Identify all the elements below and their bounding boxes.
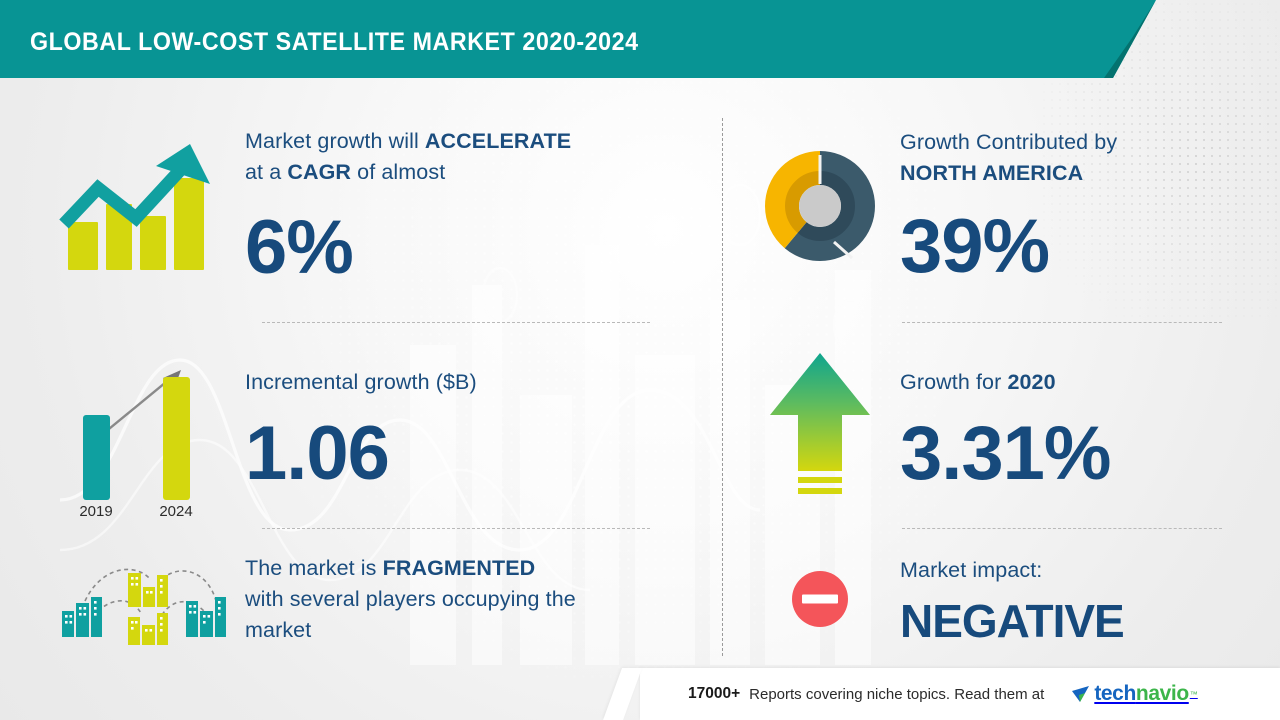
footer-tagline: Reports covering niche topics. Read them… <box>749 686 1044 703</box>
up-arrow-icon-cell <box>740 349 900 509</box>
stat-block-yearly-growth: Growth for 2020 3.31% <box>740 340 1260 518</box>
cagr-lead-bold-cagr: CAGR <box>287 160 351 184</box>
yearly-growth-value: 3.31% <box>900 416 1260 492</box>
bar-chart-icon-cell: 2019 2024 <box>40 342 245 517</box>
building-cluster-top <box>128 573 168 607</box>
footer-report-count: 17000+ <box>688 685 740 703</box>
infographic-content: Market growth will ACCELERATE at a CAGR … <box>0 78 1280 658</box>
regional-contribution-text: Growth Contributed by NORTH AMERICA 39% <box>900 127 1260 285</box>
cagr-lead-bold-accelerate: ACCELERATE <box>425 129 571 153</box>
up-arrow-icon <box>766 349 874 509</box>
divider-right-2 <box>902 528 1222 529</box>
divider-right-1 <box>902 322 1222 323</box>
fragmentation-plain-1: The market is <box>245 556 383 580</box>
cagr-lead-plain-1: Market growth will <box>245 129 425 153</box>
fragmentation-line-2: with several players occupying the <box>245 587 576 611</box>
logo-text-tech: tech <box>1094 682 1136 706</box>
stat-block-regional-contribution: Growth Contributed by NORTH AMERICA 39% <box>740 106 1260 306</box>
growth-chart-icon <box>58 136 228 276</box>
regional-lead-line-1: Growth Contributed by <box>900 130 1117 154</box>
technavio-mark-icon <box>1070 683 1092 705</box>
donut-chart-icon-cell <box>740 146 900 266</box>
yearly-growth-bold-year: 2020 <box>1007 370 1055 394</box>
stat-block-incremental-growth: 2019 2024 Incremental growth ($B) 1.06 <box>40 340 700 518</box>
cagr-lead: Market growth will ACCELERATE at a CAGR … <box>245 126 700 188</box>
divider-left-1 <box>262 322 650 323</box>
market-impact-text: Market impact: NEGATIVE <box>900 555 1260 644</box>
fragmentation-bold: FRAGMENTED <box>383 556 536 580</box>
yearly-growth-lead: Growth for 2020 <box>900 367 1260 398</box>
divider-left-2 <box>262 528 650 529</box>
fragmentation-lead: The market is FRAGMENTED with several pl… <box>245 553 700 646</box>
header-banner: GLOBAL LOW-COST SATELLITE MARKET 2020-20… <box>0 0 1160 78</box>
market-players-icon-cell <box>40 549 245 649</box>
yearly-growth-plain: Growth for <box>900 370 1007 394</box>
logo-trademark: ™ <box>1190 690 1198 699</box>
page-title: GLOBAL LOW-COST SATELLITE MARKET 2020-20… <box>30 28 639 57</box>
yearly-growth-text: Growth for 2020 3.31% <box>900 367 1260 492</box>
bar-label-2024: 2024 <box>159 503 192 517</box>
market-impact-label: Market impact: <box>900 555 1260 586</box>
negative-sign-icon <box>789 568 851 630</box>
growth-chart-icon-cell <box>40 136 245 276</box>
donut-chart-icon <box>760 146 880 266</box>
technavio-logo[interactable]: technavio™ <box>1070 682 1197 706</box>
fragmentation-text: The market is FRAGMENTED with several pl… <box>245 553 700 646</box>
cagr-value: 6% <box>245 210 700 286</box>
stat-block-fragmentation: The market is FRAGMENTED with several pl… <box>40 544 700 654</box>
fragmentation-line-3: market <box>245 618 311 642</box>
bar-label-2019: 2019 <box>79 503 112 517</box>
footer-bar: 17000+ Reports covering niche topics. Re… <box>640 668 1280 720</box>
logo-text-navio: navio <box>1136 682 1189 706</box>
stat-block-market-impact: Market impact: NEGATIVE <box>740 544 1260 654</box>
incremental-growth-label: Incremental growth ($B) <box>245 367 700 398</box>
cagr-text: Market growth will ACCELERATE at a CAGR … <box>245 126 700 286</box>
cagr-lead-plain-2: at a <box>245 160 287 184</box>
regional-contribution-lead: Growth Contributed by NORTH AMERICA <box>900 127 1260 189</box>
regional-lead-bold: NORTH AMERICA <box>900 161 1083 185</box>
cagr-lead-plain-3: of almost <box>351 160 445 184</box>
negative-sign-icon-cell <box>740 568 900 630</box>
market-impact-value: NEGATIVE <box>900 598 1260 644</box>
market-players-icon <box>50 549 235 649</box>
regional-contribution-value: 39% <box>900 209 1260 285</box>
incremental-growth-text: Incremental growth ($B) 1.06 <box>245 367 700 492</box>
stat-block-cagr: Market growth will ACCELERATE at a CAGR … <box>40 106 700 306</box>
bar-chart-icon: 2019 2024 <box>63 342 223 517</box>
incremental-growth-value: 1.06 <box>245 416 700 492</box>
